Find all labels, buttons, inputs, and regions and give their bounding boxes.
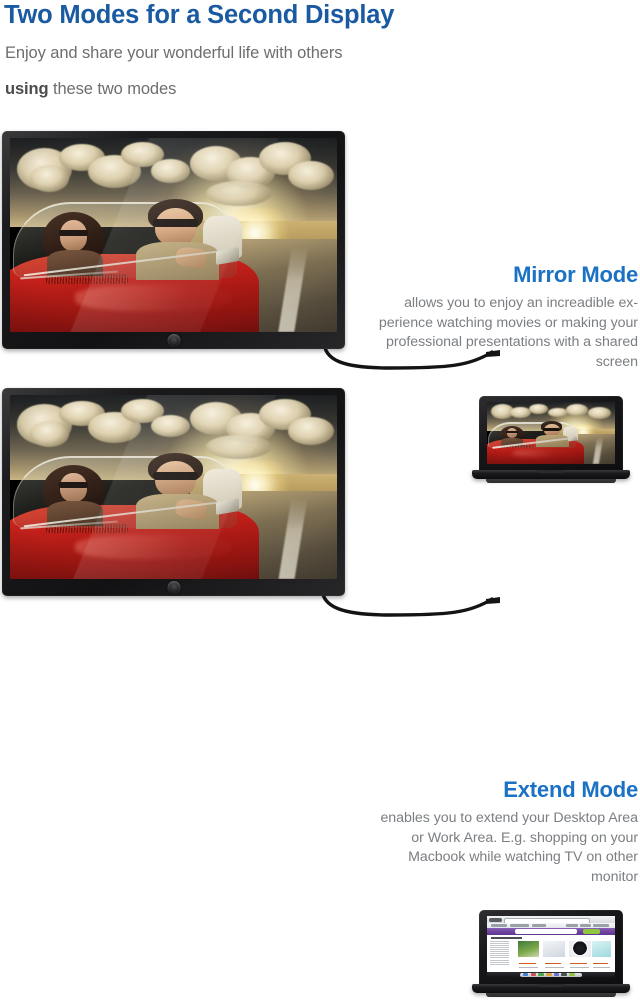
extend-mode-text-block: Extend Mode enables you to extend your D… [370,778,638,888]
product-title [593,967,610,968]
product-image [518,941,540,956]
sidebar-item[interactable] [490,949,509,950]
cloud-icon [30,165,69,192]
product-title [570,967,589,968]
tv-power-indicator-icon[interactable] [167,581,180,594]
tv-mirror[interactable] [2,131,345,349]
dock-icon[interactable] [546,973,552,976]
sidebar-item[interactable] [490,964,509,965]
photo-convertible-car [10,395,337,579]
product-image [592,941,611,956]
product-price [545,963,562,964]
dock-icon[interactable] [554,973,560,976]
cloud-icon [206,181,271,206]
tv-bezel [2,388,345,596]
mirror-mode-heading: Mirror Mode [370,263,638,287]
product-card[interactable] [543,941,565,968]
laptop-foot [486,993,616,997]
section-heading [491,937,522,939]
sidebar-item[interactable] [490,943,509,944]
tv-screen [10,395,337,579]
mirror-mode-section: Mirror Mode allows you to enjoy an incre… [0,128,640,378]
photo-passenger-woman [53,465,96,517]
site-cart-button[interactable] [583,929,600,933]
mirror-mode-text-block: Mirror Mode allows you to enjoy an incre… [370,263,638,373]
cloud-icon [288,417,334,445]
extend-mode-description: enables you to extend your Desktop Area … [370,809,638,887]
dock-icon[interactable] [538,973,544,976]
photo-car-highlight [75,535,232,559]
sidebar-item[interactable] [490,945,509,946]
photo-arm [175,498,208,520]
cloud-icon [288,161,334,190]
product-image [543,941,565,956]
site-search-input[interactable] [515,929,576,933]
bookmark-item[interactable] [593,924,608,926]
page-subtitle-line-1: Enjoy and share your wonderful life with… [5,44,342,63]
tv-power-indicator-icon[interactable] [167,334,180,347]
sunglasses-icon [153,472,198,480]
cloud-icon [30,421,69,447]
page-subtitle-emphasis: using [5,80,49,98]
photo-passenger-woman [53,212,96,266]
tv-bezel [2,131,345,349]
sidebar-item[interactable] [490,957,509,958]
sidebar-item[interactable] [490,947,509,948]
bookmark-item[interactable] [491,924,508,926]
bookmark-item[interactable] [580,924,590,926]
bookmark-item[interactable] [566,924,578,926]
browser-window[interactable] [487,916,615,978]
bookmark-item[interactable] [532,924,546,926]
laptop-lid [479,910,623,986]
product-title [519,967,538,968]
sidebar-item[interactable] [490,953,509,954]
product-price [519,963,536,964]
sunglasses-icon [153,219,198,228]
sidebar-item[interactable] [490,960,509,961]
browser-tab[interactable] [489,918,502,922]
product-image [569,941,591,956]
extend-mode-section: Extend Mode enables you to extend your D… [0,385,640,621]
page-subtitle-line-2: using these two modes [5,80,176,99]
dock-icon[interactable] [561,973,567,976]
laptop-screen [487,916,615,978]
cloud-icon [151,159,190,182]
sunglasses-icon [59,230,88,237]
dock-icon[interactable] [531,973,537,976]
product-card[interactable] [592,941,611,968]
sidebar-item[interactable] [490,962,509,963]
sidebar-item[interactable] [490,941,509,942]
mirror-mode-description: allows you to enjoy an increadible ex-pe… [370,294,638,372]
photo-car-highlight [75,285,232,310]
laptop-extend[interactable] [472,910,630,1002]
dock-icon[interactable] [569,973,575,976]
page-subtitle-rest: these two modes [49,80,177,98]
page-title: Two Modes for a Second Display [4,1,394,30]
sidebar-item[interactable] [490,951,509,952]
bookmark-item[interactable] [510,924,529,926]
tv-screen [10,138,337,332]
product-card[interactable] [518,941,540,968]
category-sidebar[interactable] [490,941,512,971]
product-card[interactable] [569,941,591,968]
product-price [593,963,608,964]
product-price [570,963,587,964]
photo-convertible-car [10,138,337,332]
product-title [545,967,564,968]
extend-mode-heading: Extend Mode [370,778,638,802]
tv-extend[interactable] [2,388,345,596]
sidebar-item[interactable] [490,955,509,956]
sunglasses-icon [59,482,88,488]
laptop-notch [537,984,565,987]
laptop-base [472,984,630,993]
